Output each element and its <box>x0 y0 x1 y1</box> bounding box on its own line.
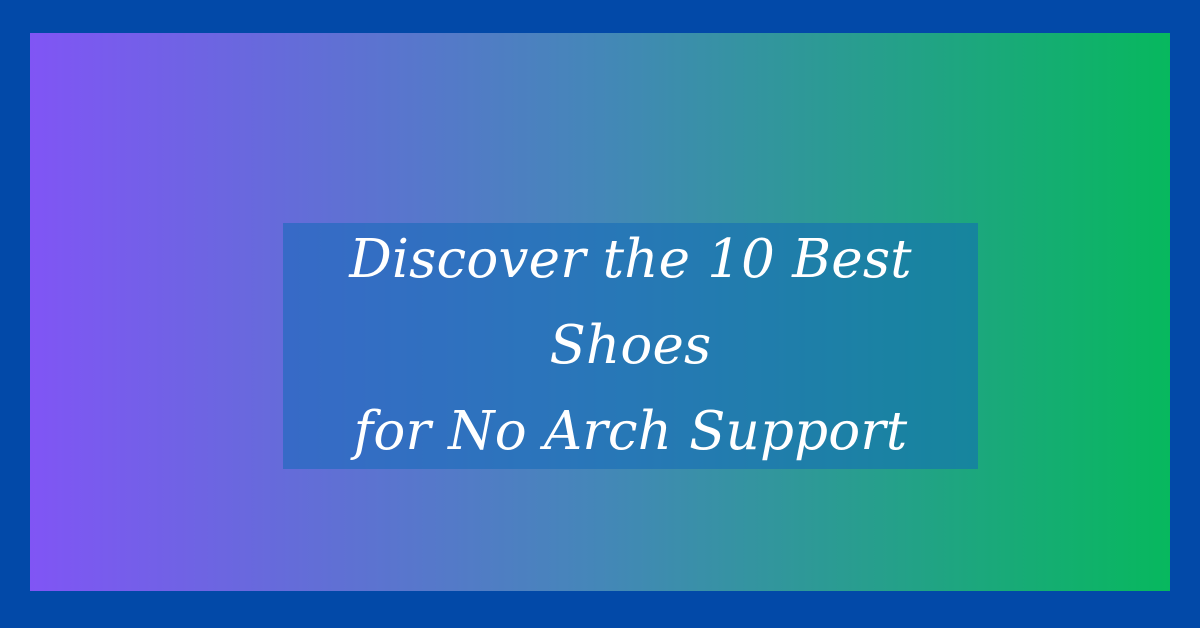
title-overlay-plate: Discover the 10 Best Shoes for No Arch S… <box>283 223 978 469</box>
gradient-background: Discover the 10 Best Shoes for No Arch S… <box>30 33 1170 591</box>
page-title: Discover the 10 Best Shoes for No Arch S… <box>301 217 960 475</box>
promo-banner: Discover the 10 Best Shoes for No Arch S… <box>0 0 1200 628</box>
